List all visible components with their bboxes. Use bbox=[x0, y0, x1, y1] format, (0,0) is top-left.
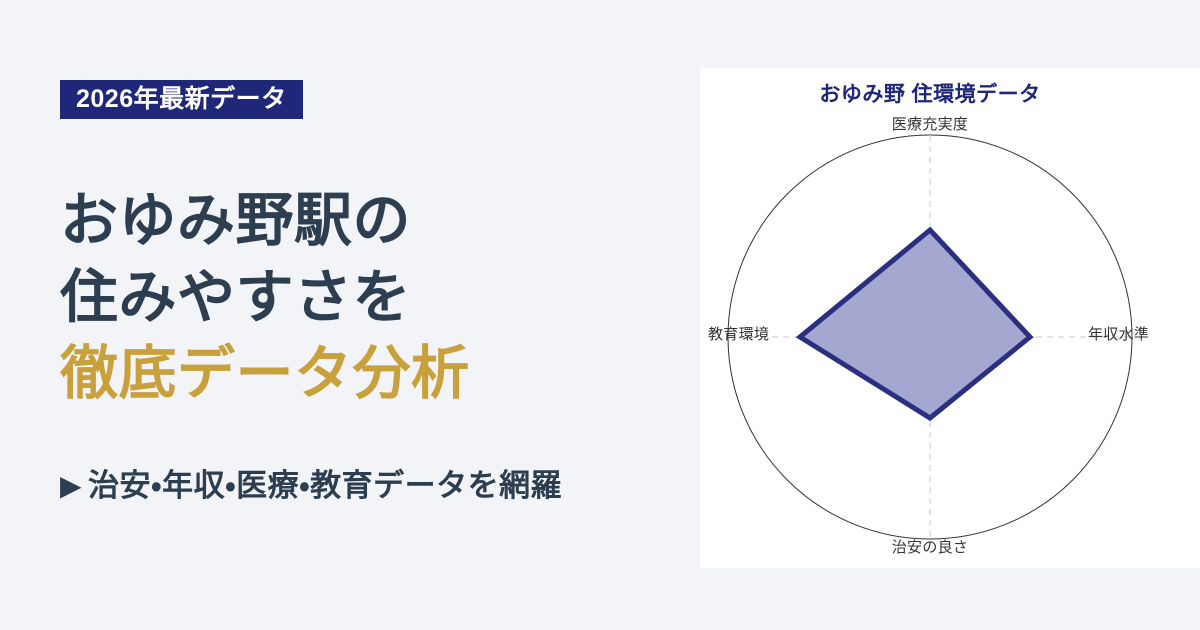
latest-data-badge: 2026年最新データ bbox=[60, 80, 303, 119]
radar-label-left: 教育環境 bbox=[708, 323, 769, 344]
ogp-card: 2026年最新データ おゆみ野駅の 住みやすさを 徹底データ分析 ▶ 治安・年収… bbox=[0, 0, 1200, 630]
headline-line-2: 住みやすさを bbox=[60, 260, 700, 337]
radar-chart-svg bbox=[700, 68, 1200, 568]
page-title: おゆみ野駅の 住みやすさを 徹底データ分析 bbox=[60, 183, 700, 413]
headline-column: 2026年最新データ おゆみ野駅の 住みやすさを 徹底データ分析 ▶ 治安・年収… bbox=[60, 0, 720, 630]
headline-line-3-highlight: 徹底データ分析 bbox=[60, 336, 700, 413]
radar-data-polygon bbox=[800, 230, 1030, 418]
headline-line-1: おゆみ野駅の bbox=[60, 183, 700, 260]
radar-chart-panel: おゆみ野 住環境データ 医療充実度 年収水準 治安の良さ 教育環境 bbox=[700, 68, 1200, 568]
radar-label-right: 年収水準 bbox=[1088, 323, 1149, 344]
subtitle-text: 治安・年収・医療・教育データを網羅 bbox=[88, 466, 562, 506]
triangle-right-icon: ▶ bbox=[60, 472, 82, 500]
subtitle: ▶ 治安・年収・医療・教育データを網羅 bbox=[60, 466, 562, 506]
radar-label-top: 医療充実度 bbox=[700, 113, 1160, 134]
radar-label-bottom: 治安の良さ bbox=[700, 536, 1160, 557]
